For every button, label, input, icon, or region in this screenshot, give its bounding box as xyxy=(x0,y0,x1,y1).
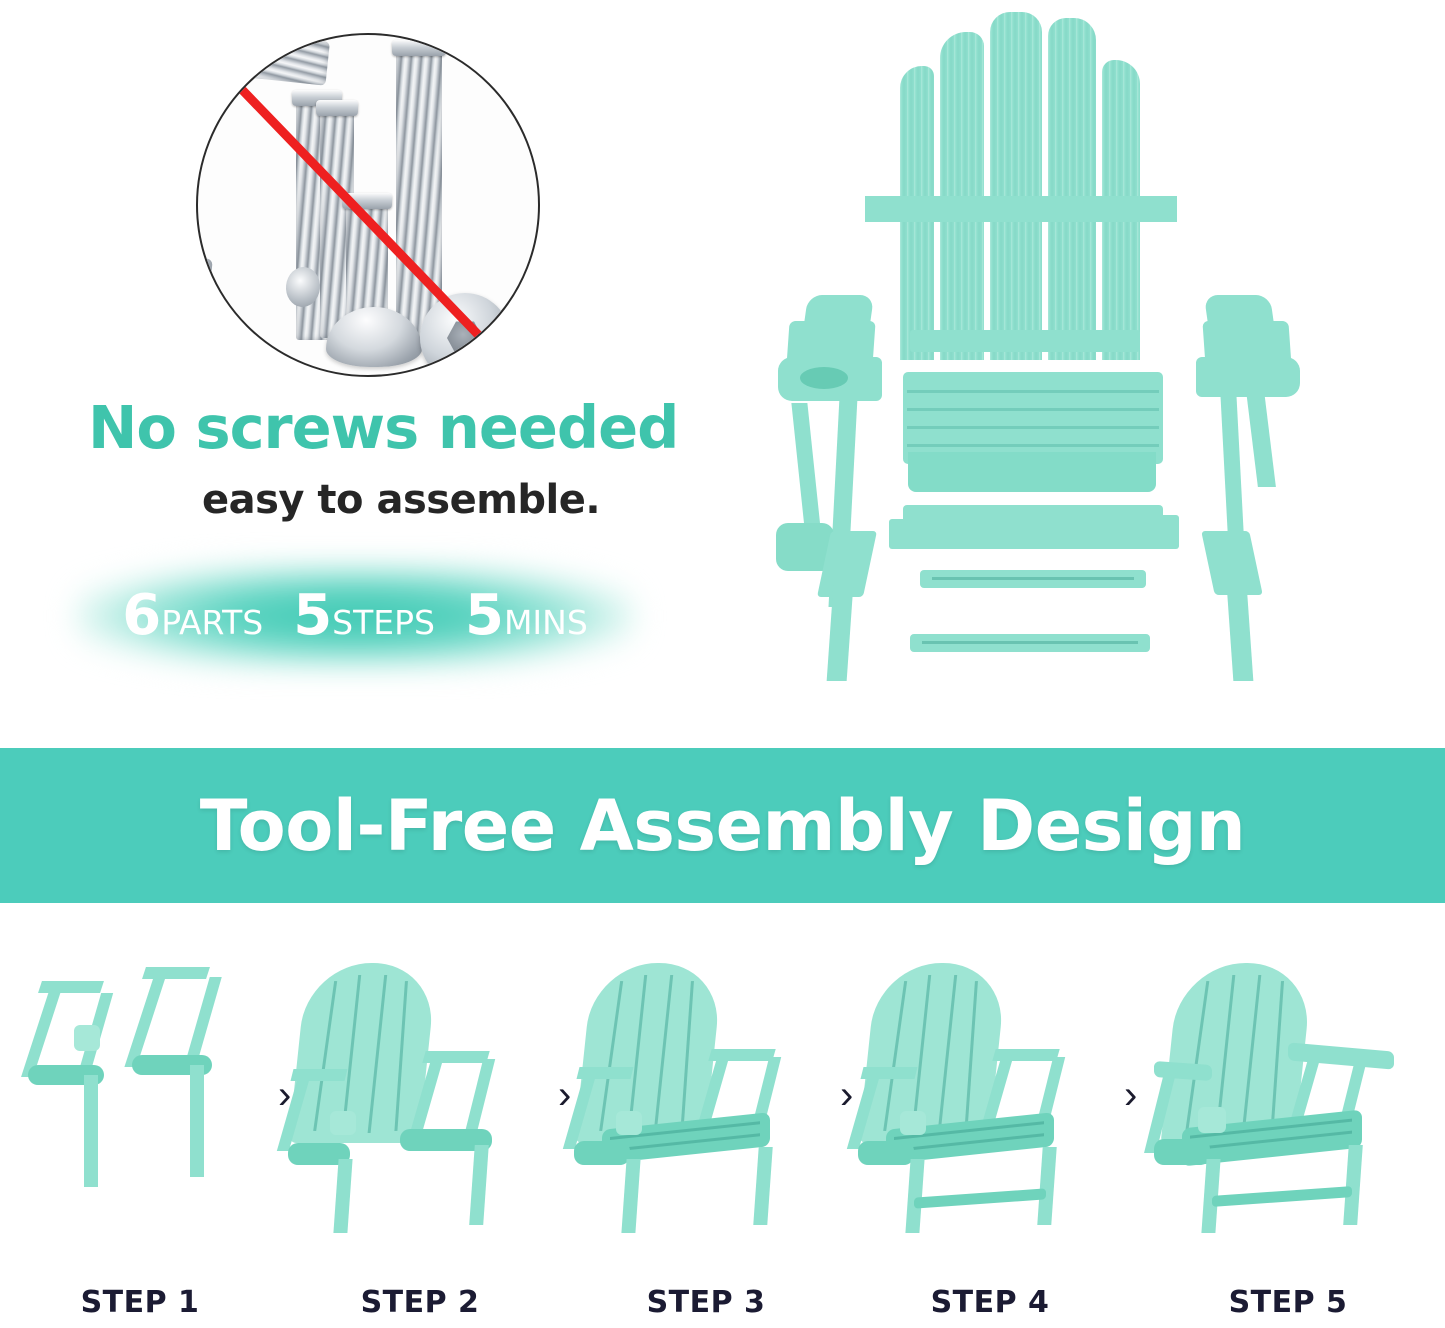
right-leg xyxy=(469,1145,489,1225)
seat-front-edge xyxy=(908,452,1156,492)
frame-arm-top xyxy=(21,985,63,1077)
part-left-side-frame xyxy=(778,295,888,685)
back-slat xyxy=(990,12,1042,360)
cup-holder xyxy=(330,1111,356,1135)
frame-with-back-art xyxy=(280,963,560,1233)
part-support-rail xyxy=(903,505,1163,549)
stat-mins-unit: MINS xyxy=(504,606,588,639)
hex-socket-screw-icon xyxy=(420,293,510,377)
back-slat xyxy=(1048,18,1096,360)
right-leg xyxy=(1037,1147,1056,1225)
back-bar-left-tab xyxy=(865,196,925,222)
part-cross-bar-upper xyxy=(920,570,1146,588)
left-seat-rail xyxy=(574,1141,630,1165)
step-1-label: STEP 1 xyxy=(0,1285,280,1320)
step-4-label: STEP 4 xyxy=(850,1285,1130,1320)
assembled-chair-art xyxy=(1148,963,1428,1233)
chair-with-brace-art xyxy=(850,963,1130,1233)
rear-support xyxy=(791,403,820,529)
part-seat-slab xyxy=(903,372,1163,464)
back-bar-right-tab xyxy=(1115,196,1177,222)
step-1-illustration xyxy=(0,963,280,1233)
right-arm-rail xyxy=(992,1049,1059,1061)
left-leg xyxy=(621,1159,640,1233)
part-cross-bar-lower xyxy=(910,634,1150,652)
cup-holder xyxy=(74,1025,100,1051)
left-leg xyxy=(905,1159,924,1233)
step-3-label: STEP 3 xyxy=(566,1285,846,1320)
cross-brace xyxy=(1212,1186,1352,1207)
stat-mins: 5 MINS xyxy=(465,588,588,644)
top-feature-section: No screws needed easy to assemble. 6 PAR… xyxy=(0,0,1445,748)
bolt-head-icon xyxy=(196,255,213,315)
part-right-side-frame xyxy=(1190,295,1300,685)
left-arm-rail xyxy=(577,1067,634,1079)
step-5-label: STEP 5 xyxy=(1148,1285,1428,1320)
cup-holder-hole xyxy=(800,367,848,389)
step-separator-4: › xyxy=(1124,1073,1137,1118)
assembly-steps-row: › STEP 1 › STEP 2 xyxy=(0,903,1445,1328)
cross-brace xyxy=(914,1188,1046,1208)
bolt-icon xyxy=(196,33,330,86)
two-side-frames-art xyxy=(0,963,280,1233)
stats-badge: 6 PARTS 5 STEPS 5 MINS xyxy=(75,556,635,676)
stats-list: 6 PARTS 5 STEPS 5 MINS xyxy=(75,556,635,676)
section-banner: Tool-Free Assembly Design xyxy=(0,748,1445,903)
no-screws-photo xyxy=(196,33,540,377)
step-2-illustration xyxy=(280,963,560,1233)
banner-title: Tool-Free Assembly Design xyxy=(200,785,1246,867)
part-chair-back-panel xyxy=(900,8,1140,360)
left-seat-rail xyxy=(1154,1139,1210,1165)
cup-holder xyxy=(900,1111,926,1135)
stat-parts: 6 PARTS xyxy=(122,588,263,644)
rear-leg xyxy=(1227,585,1254,681)
arm-strut xyxy=(1246,391,1276,487)
cup-holder xyxy=(616,1111,642,1135)
right-arm-rail xyxy=(422,1051,489,1063)
frame-arm-rail xyxy=(142,967,210,979)
back-foot-bar xyxy=(910,330,1140,352)
bolt-icon xyxy=(396,50,442,340)
stat-parts-unit: PARTS xyxy=(161,606,263,639)
right-leg xyxy=(753,1147,772,1225)
left-arm-rail xyxy=(291,1069,348,1081)
stat-mins-value: 5 xyxy=(465,588,504,644)
cup-holder xyxy=(1198,1107,1226,1133)
right-armrest xyxy=(1288,1042,1394,1069)
frame-arm-rail xyxy=(38,981,104,993)
stat-steps-unit: STEPS xyxy=(332,606,435,639)
frame-leg xyxy=(84,1075,98,1187)
exploded-parts-diagram xyxy=(760,0,1320,720)
page-title: No screws needed xyxy=(88,398,708,457)
left-leg xyxy=(333,1159,352,1233)
stat-parts-value: 6 xyxy=(122,588,161,644)
step-3-illustration xyxy=(566,963,846,1233)
page-subtitle: easy to assemble. xyxy=(202,480,702,520)
step-2-label: STEP 2 xyxy=(280,1285,560,1320)
stat-steps: 5 STEPS xyxy=(293,588,435,644)
right-arm-rail xyxy=(708,1049,775,1061)
right-leg xyxy=(1343,1145,1363,1225)
step-4-illustration xyxy=(850,963,1130,1233)
frame-arm-top xyxy=(124,971,167,1067)
left-seat-rail xyxy=(858,1141,914,1165)
frame-with-seat-art xyxy=(566,963,846,1233)
stat-steps-value: 5 xyxy=(293,588,332,644)
left-arm-rail xyxy=(861,1067,918,1079)
step-5-illustration xyxy=(1148,963,1428,1233)
frame-leg xyxy=(190,1065,204,1177)
